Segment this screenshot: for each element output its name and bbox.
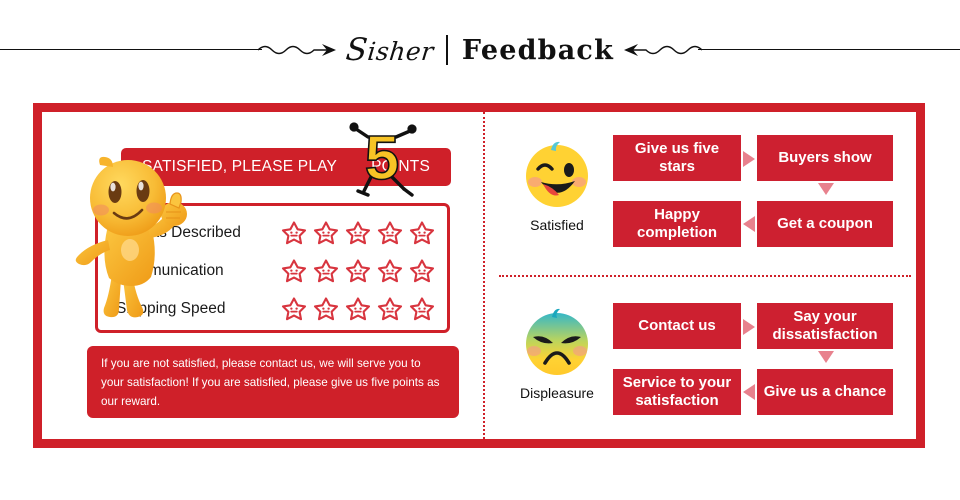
star-icon[interactable] [409, 296, 435, 322]
right-panel: Satisfied Give us five stars Buyers show… [493, 103, 925, 448]
running-five-icon: 5 [338, 111, 426, 201]
note-text: If you are not satisfied, please contact… [101, 354, 445, 411]
arrow-right-icon [743, 319, 755, 335]
left-panel: SATISFIED, PLEASE PLAYPOINTS 5 [33, 103, 493, 448]
flow-step-box[interactable]: Contact us [613, 303, 741, 349]
star-icon[interactable] [377, 258, 403, 284]
rating-stars[interactable] [281, 220, 435, 246]
arrow-down-icon [818, 351, 834, 363]
note-box: If you are not satisfied, please contact… [87, 346, 459, 418]
displeasure-mood: Displeasure [511, 305, 603, 401]
flow-step-box[interactable]: Give us a chance [757, 369, 893, 415]
flow-step-box[interactable]: Get a coupon [757, 201, 893, 247]
angry-sad-face-icon [519, 305, 595, 381]
flow-step-box[interactable]: Buyers show [757, 135, 893, 181]
brand-rest: isher [366, 37, 435, 66]
star-icon[interactable] [345, 296, 371, 322]
svg-text:5: 5 [365, 124, 399, 193]
flow-step-box[interactable]: Give us five stars [613, 135, 741, 181]
satisfied-mood: Satisfied [511, 137, 603, 233]
star-icon[interactable] [377, 296, 403, 322]
star-icon[interactable] [281, 258, 307, 284]
star-icon[interactable] [313, 220, 339, 246]
header-divider [446, 35, 448, 65]
brand-name: Sisher [344, 32, 436, 68]
satisfied-flow: Satisfied Give us five stars Buyers show… [493, 113, 925, 278]
arrow-left-icon [743, 384, 755, 400]
flow-step-box[interactable]: Happy completion [613, 201, 741, 247]
arrow-down-icon [818, 183, 834, 195]
arrow-left-icon [743, 216, 755, 232]
feedback-banner: Sisher Feedback SATISFIED, PLEASE PLAYPO… [0, 0, 960, 500]
star-icon[interactable] [377, 220, 403, 246]
mood-label: Displeasure [520, 385, 594, 401]
winking-happy-face-icon [519, 137, 595, 213]
mascot-thumbs-up-icon [66, 156, 191, 326]
star-icon[interactable] [313, 258, 339, 284]
star-icon[interactable] [409, 220, 435, 246]
rating-stars[interactable] [281, 296, 435, 322]
star-icon[interactable] [313, 296, 339, 322]
star-icon[interactable] [409, 258, 435, 284]
mood-label: Satisfied [530, 217, 584, 233]
star-icon[interactable] [281, 296, 307, 322]
page-header: Sisher Feedback [0, 26, 960, 74]
star-icon[interactable] [281, 220, 307, 246]
star-icon[interactable] [345, 220, 371, 246]
flow-step-box[interactable]: Service to your satisfaction [613, 369, 741, 415]
rating-stars[interactable] [281, 258, 435, 284]
star-icon[interactable] [345, 258, 371, 284]
flow-step-box[interactable]: Say your dissatisfaction [757, 303, 893, 349]
arrow-right-icon [743, 151, 755, 167]
displeasure-flow: Displeasure Contact us Say your dissatis… [493, 281, 925, 446]
page-title: Feedback [462, 35, 614, 66]
